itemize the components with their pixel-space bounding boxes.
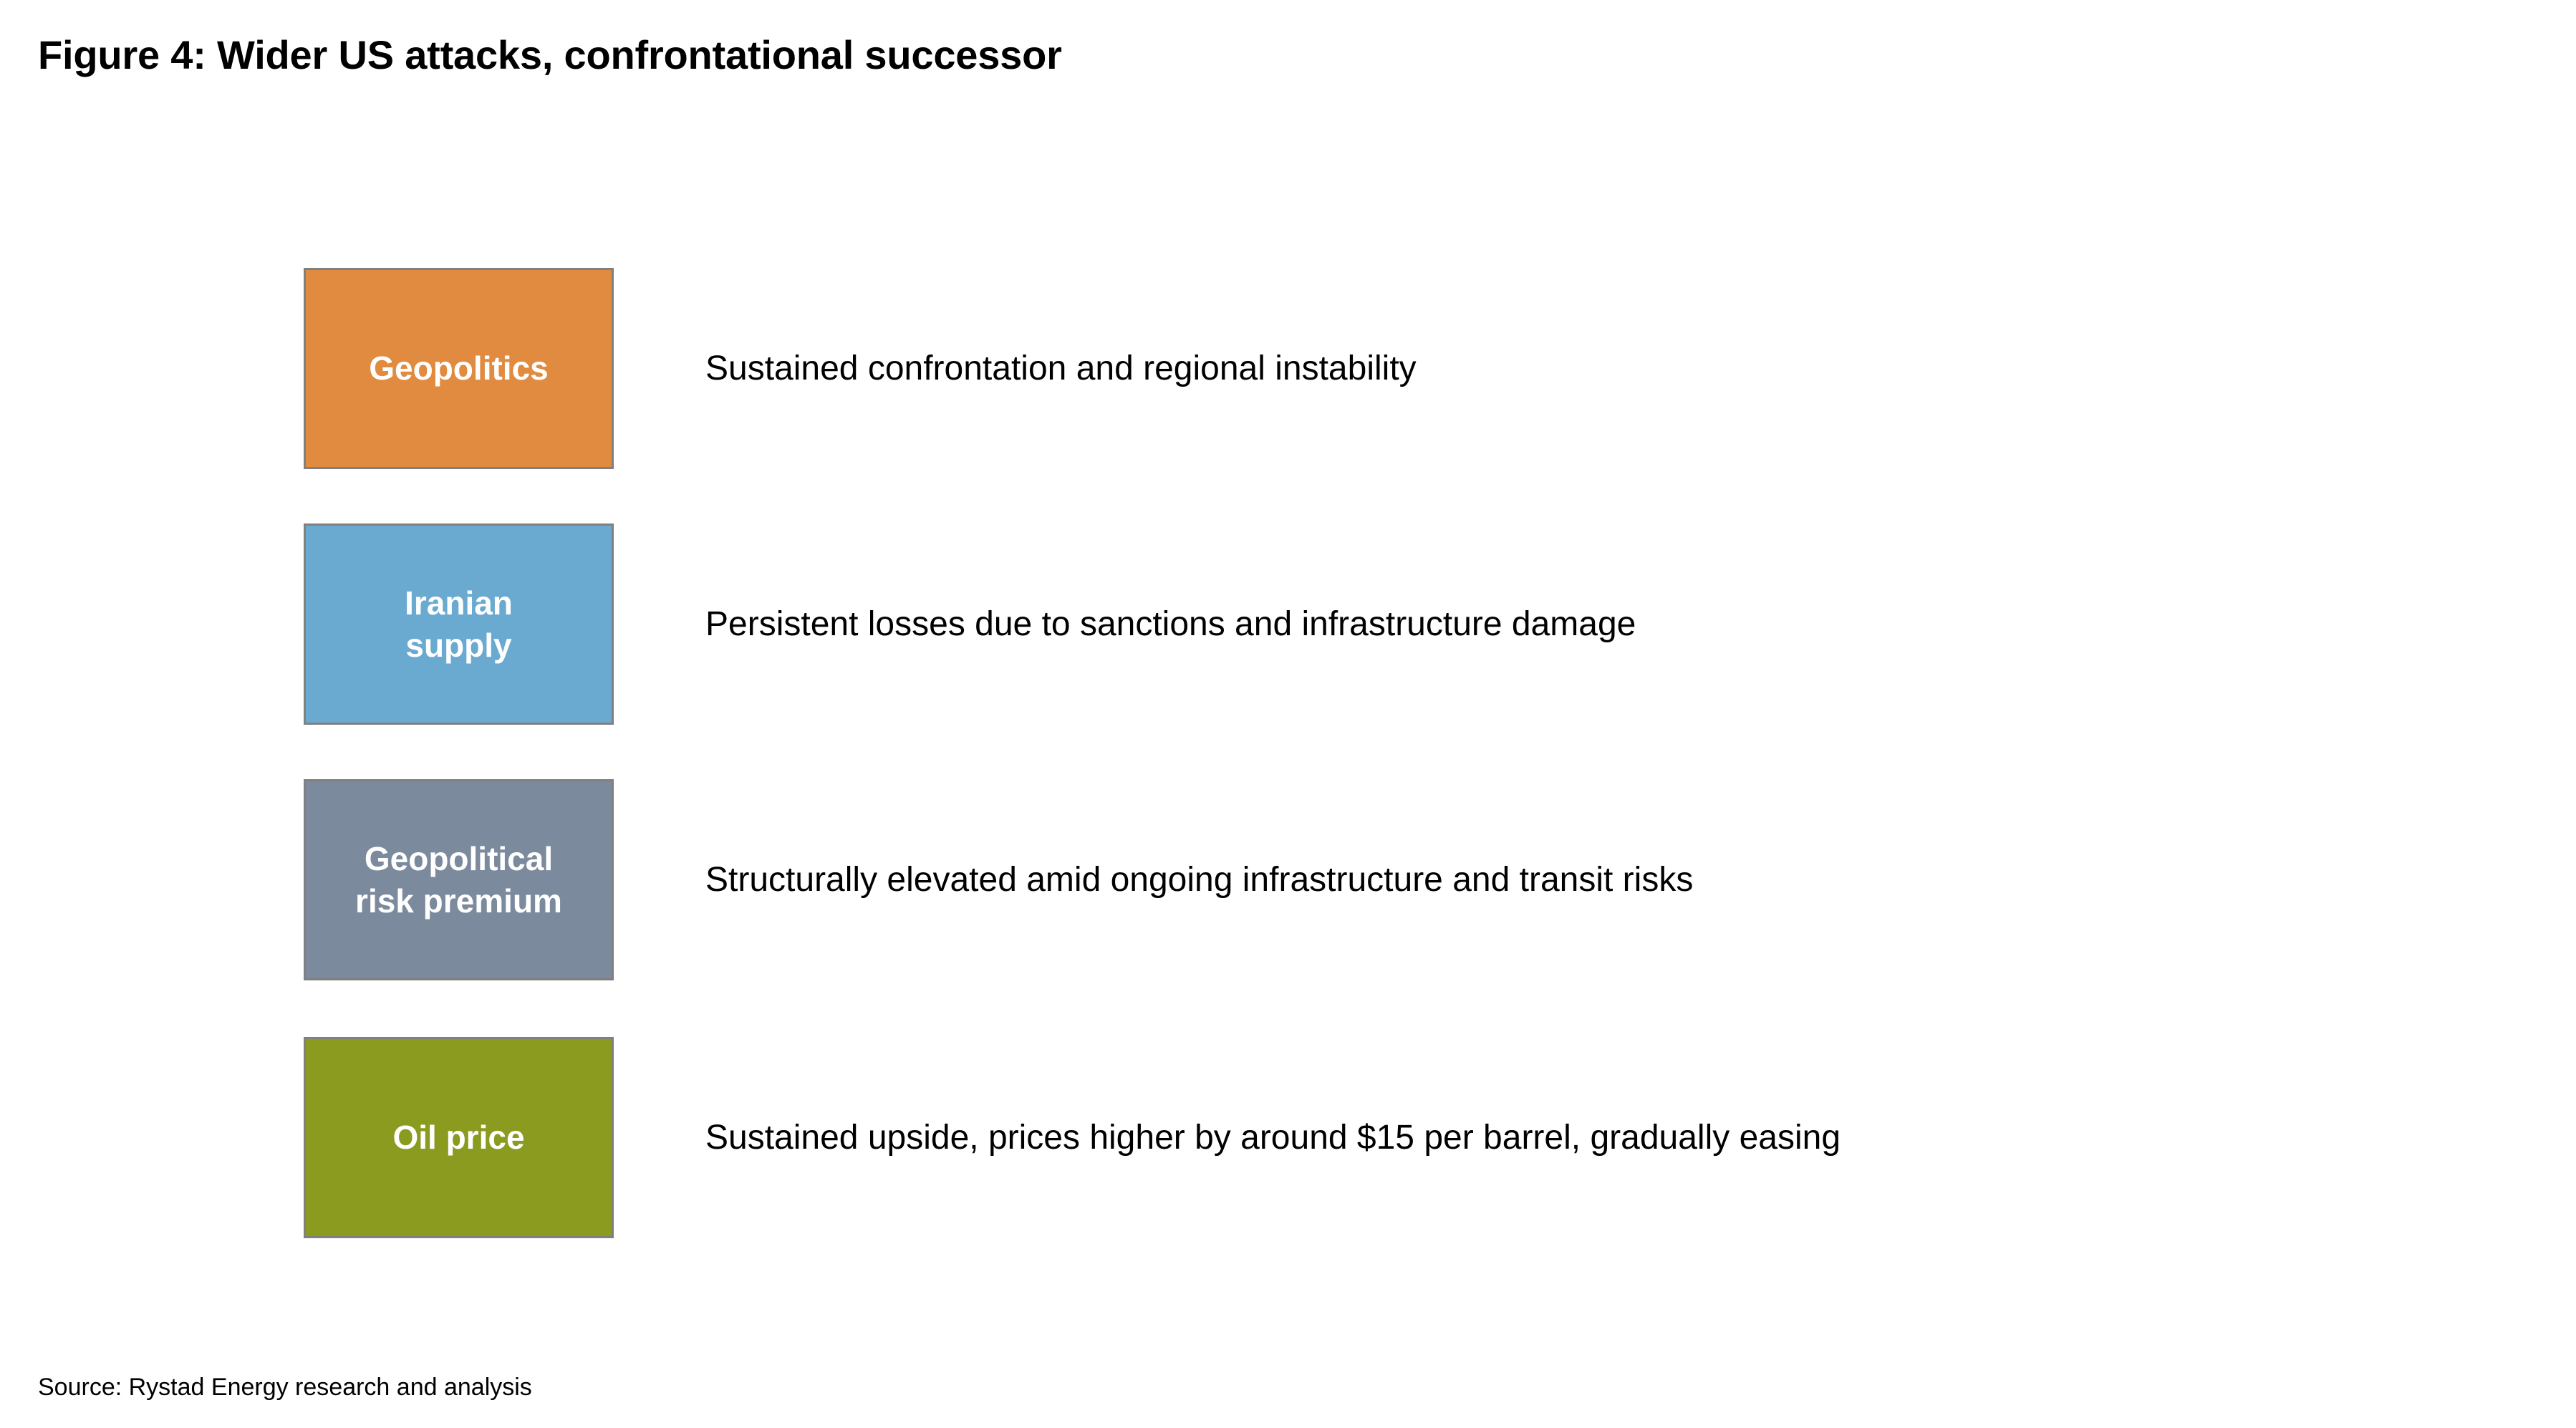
category-box-iranian-supply[interactable]: Iranian supply [304,524,614,725]
category-box-label: Iranian supply [397,582,520,667]
figure-canvas: Figure 4: Wider US attacks, confrontatio… [0,0,2576,1428]
category-box-geopolitics[interactable]: Geopolitics [304,268,614,469]
category-box-label: Geopolitics [362,347,555,390]
row-description-iranian-supply: Persistent losses due to sanctions and i… [705,524,1636,725]
category-box-geopolitical-risk-premium[interactable]: Geopolitical risk premium [304,779,614,980]
category-rows-area: Geopolitics Sustained confrontation and … [0,0,2576,1428]
row-description-geopolitics: Sustained confrontation and regional ins… [705,268,1417,469]
table-row: Oil price Sustained upside, prices highe… [0,1037,2576,1238]
table-row: Geopolitical risk premium Structurally e… [0,779,2576,980]
table-row: Geopolitics Sustained confrontation and … [0,268,2576,469]
row-description-geopolitical-risk-premium: Structurally elevated amid ongoing infra… [705,779,1693,980]
source-note: Source: Rystad Energy research and analy… [38,1374,532,1402]
table-row: Iranian supply Persistent losses due to … [0,524,2576,725]
category-box-label: Oil price [385,1116,531,1159]
category-box-oil-price[interactable]: Oil price [304,1037,614,1238]
row-description-oil-price: Sustained upside, prices higher by aroun… [705,1037,1841,1238]
category-box-label: Geopolitical risk premium [348,838,569,922]
